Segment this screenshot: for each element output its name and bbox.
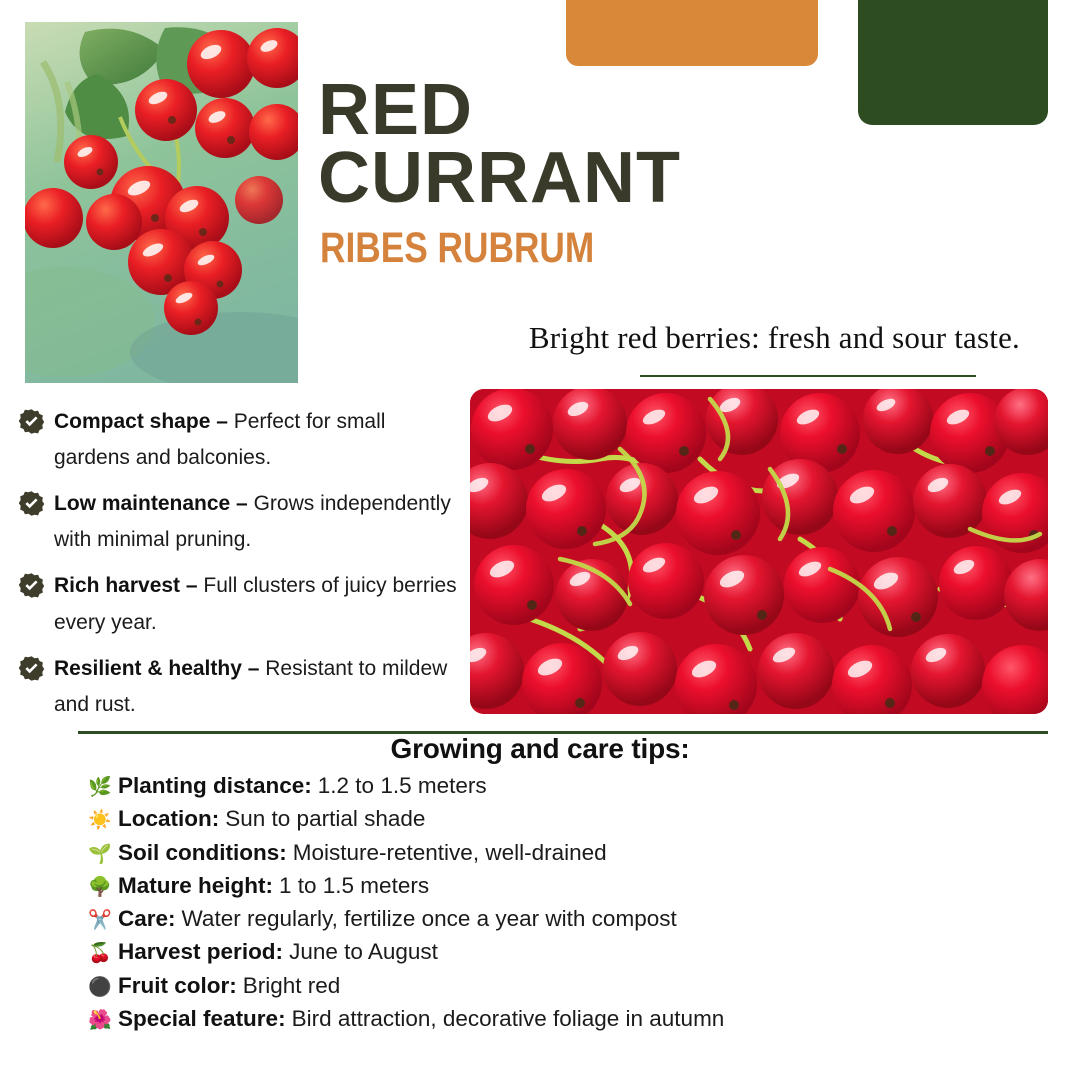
list-item: ✂️ Care: Water regularly, fertilize once…	[88, 902, 1048, 935]
tip-label: Location:	[118, 802, 219, 835]
tip-value: Sun to partial shade	[225, 802, 425, 835]
scientific-name: RIBES RUBRUM	[320, 227, 892, 270]
benefit-label: Resilient & healthy –	[54, 657, 259, 680]
cherries-icon: 🍒	[88, 940, 114, 968]
list-item: 🍒 Harvest period: June to August	[88, 935, 1048, 968]
tree-icon: 🌳	[88, 874, 114, 902]
dark-circle-icon: ⚫	[88, 974, 114, 1002]
benefit-text: Compact shape – Perfect for small garden…	[54, 404, 458, 476]
list-item: Rich harvest – Full clusters of juicy be…	[18, 568, 458, 640]
list-item: 🌳 Mature height: 1 to 1.5 meters	[88, 869, 1048, 902]
benefit-label: Rich harvest –	[54, 574, 198, 597]
tip-value: June to August	[289, 935, 438, 968]
tips-heading: Growing and care tips:	[0, 733, 1080, 765]
tip-label: Special feature:	[118, 1002, 286, 1035]
tips-list: 🌿 Planting distance: 1.2 to 1.5 meters ☀…	[88, 769, 1048, 1035]
tip-label: Care:	[118, 902, 176, 935]
tip-value: 1.2 to 1.5 meters	[318, 769, 487, 802]
tip-value: Bright red	[243, 969, 341, 1002]
hibiscus-icon: 🌺	[88, 1007, 114, 1035]
page-title: RED CURRANT	[318, 76, 1018, 213]
decor-block-orange	[566, 0, 818, 66]
list-item: 🌿 Planting distance: 1.2 to 1.5 meters	[88, 769, 1048, 802]
benefits-list: Compact shape – Perfect for small garden…	[18, 404, 458, 733]
tip-label: Fruit color:	[118, 969, 237, 1002]
berry-photo	[470, 389, 1048, 714]
hero-photo	[25, 22, 298, 383]
benefit-label: Low maintenance –	[54, 492, 248, 515]
check-badge-icon	[18, 408, 45, 435]
benefit-text: Resilient & healthy – Resistant to milde…	[54, 651, 458, 723]
tip-value: 1 to 1.5 meters	[279, 869, 429, 902]
list-item: 🌺 Special feature: Bird attraction, deco…	[88, 1002, 1048, 1035]
seedling-icon: 🌱	[88, 841, 114, 869]
tip-value: Bird attraction, decorative foliage in a…	[292, 1002, 725, 1035]
scissors-icon: ✂️	[88, 907, 114, 935]
tagline-divider	[640, 375, 976, 377]
tip-label: Harvest period:	[118, 935, 283, 968]
poster-canvas: RED CURRANT RIBES RUBRUM Bright red berr…	[0, 0, 1080, 1080]
check-badge-icon	[18, 655, 45, 682]
list-item: ⚫ Fruit color: Bright red	[88, 969, 1048, 1002]
list-item: Compact shape – Perfect for small garden…	[18, 404, 458, 476]
tip-label: Mature height:	[118, 869, 273, 902]
title-block: RED CURRANT RIBES RUBRUM	[318, 76, 1018, 270]
tip-label: Planting distance:	[118, 769, 312, 802]
list-item: Low maintenance – Grows independently wi…	[18, 486, 458, 558]
herb-icon: 🌿	[88, 774, 114, 802]
benefit-text: Rich harvest – Full clusters of juicy be…	[54, 568, 458, 640]
tagline: Bright red berries: fresh and sour taste…	[400, 320, 1020, 356]
benefit-label: Compact shape –	[54, 410, 228, 433]
tip-value: Water regularly, fertilize once a year w…	[182, 902, 677, 935]
list-item: ☀️ Location: Sun to partial shade	[88, 802, 1048, 835]
list-item: 🌱 Soil conditions: Moisture-retentive, w…	[88, 836, 1048, 869]
list-item: Resilient & healthy – Resistant to milde…	[18, 651, 458, 723]
sun-icon: ☀️	[88, 807, 114, 835]
check-badge-icon	[18, 572, 45, 599]
check-badge-icon	[18, 490, 45, 517]
title-line-2: CURRANT	[318, 144, 1018, 212]
benefit-text: Low maintenance – Grows independently wi…	[54, 486, 458, 558]
tip-value: Moisture-retentive, well-drained	[293, 836, 607, 869]
tip-label: Soil conditions:	[118, 836, 287, 869]
